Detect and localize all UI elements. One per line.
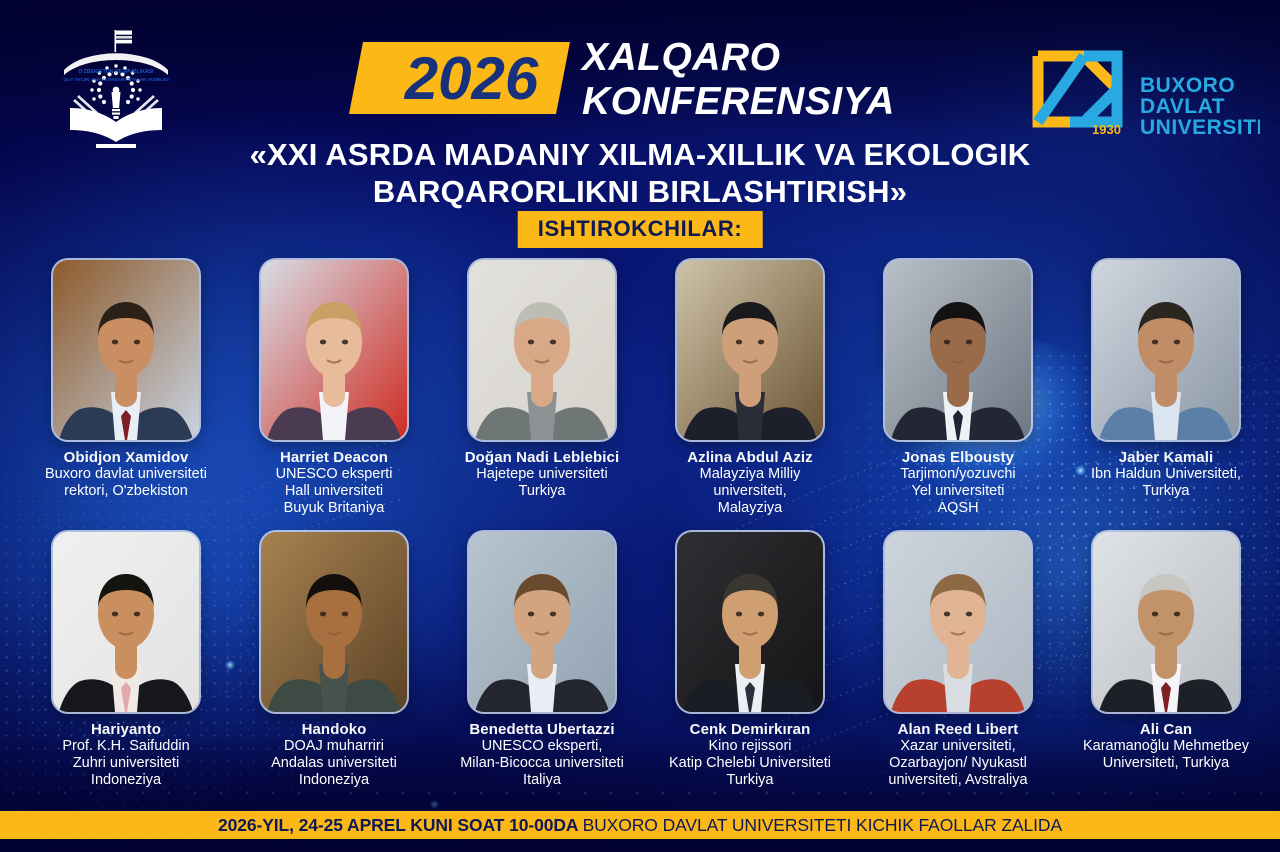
speaker-affiliation-line: Kino rejissori: [646, 738, 854, 755]
speaker-affiliation-line: Yel universiteti: [854, 483, 1062, 500]
speaker-affiliation: Kino rejissoriKatip Chelebi Universiteti…: [646, 738, 854, 789]
speaker-photo: [53, 260, 199, 440]
speaker-info: Jonas ElboustyTarjimon/yozuvchiYel unive…: [854, 449, 1062, 517]
speaker-affiliation: Prof. K.H. SaifuddinZuhri universitetiIn…: [22, 738, 230, 789]
speaker-row-2: HariyantoProf. K.H. SaifuddinZuhri unive…: [0, 532, 1280, 789]
speaker-affiliation-line: Milan-Bicocca universiteti: [438, 755, 646, 772]
speaker-card: Cenk DemirkıranKino rejissoriKatip Chele…: [646, 532, 854, 789]
speaker-info: HariyantoProf. K.H. SaifuddinZuhri unive…: [22, 721, 230, 789]
speaker-photo: [885, 532, 1031, 712]
speaker-card: Harriet DeaconUNESCO ekspertiHall univer…: [230, 260, 438, 517]
speaker-name: Alan Reed Libert: [854, 721, 1062, 738]
speaker-name: Hariyanto: [22, 721, 230, 738]
event-datetime-banner: 2026-YIL, 24-25 APREL KUNI SOAT 10-00DA …: [0, 811, 1280, 839]
speaker-card: Ali CanKaramanoğlu MehmetbeyUniversiteti…: [1062, 532, 1270, 789]
speaker-affiliation-line: Zuhri universiteti: [22, 755, 230, 772]
conference-poster: O'ZBEKISTON RESPUBLIKASI OLIY TA'LIM, FA…: [0, 0, 1280, 852]
speaker-card: HandokoDOAJ muharririAndalas universitet…: [230, 532, 438, 789]
subtitle-line2: BARQARORLIKNI BIRLASHTIRISH»: [0, 173, 1280, 210]
speaker-card: Obidjon XamidovBuxoro davlat universitet…: [22, 260, 230, 517]
speaker-photo: [261, 260, 407, 440]
year-text: 2026: [368, 45, 575, 111]
speaker-card: Jaber KamaliIbn Haldun Universiteti,Turk…: [1062, 260, 1270, 517]
speaker-affiliation-line: Buyuk Britaniya: [230, 500, 438, 517]
speaker-affiliation-line: Tarjimon/yozuvchi: [854, 466, 1062, 483]
speaker-affiliation-line: Hajetepe universiteti: [438, 466, 646, 483]
emblem-text-line1: O'ZBEKISTON RESPUBLIKASI: [78, 69, 154, 75]
speaker-affiliation: Karamanoğlu MehmetbeyUniversiteti, Turki…: [1062, 738, 1270, 772]
conference-title-line1: XALQARO: [582, 36, 895, 80]
speaker-info: Ali CanKaramanoğlu MehmetbeyUniversiteti…: [1062, 721, 1270, 772]
footer-regular-part: BUXORO DAVLAT UNIVERSITETI KICHIK FAOLLA…: [583, 815, 1062, 835]
speaker-name: Jaber Kamali: [1062, 449, 1270, 466]
emblem-text-line2: OLIY TA'LIM, FAN VA INNOVATSIYALAR VAZIR…: [63, 77, 168, 82]
speaker-affiliation: Ibn Haldun Universiteti,Turkiya: [1062, 466, 1270, 500]
speaker-photo: [677, 260, 823, 440]
footer-text: 2026-YIL, 24-25 APREL KUNI SOAT 10-00DA …: [218, 815, 1062, 836]
speaker-affiliation-line: UNESCO eksperti,: [438, 738, 646, 755]
speaker-info: HandokoDOAJ muharririAndalas universitet…: [230, 721, 438, 789]
speaker-affiliation: Buxoro davlat universitetirektori, O'zbe…: [22, 466, 230, 500]
conference-subtitle: «XXI ASRDA MADANIY XILMA-XILLIK VA EKOLO…: [0, 136, 1280, 210]
speaker-affiliation-line: Turkiya: [646, 772, 854, 789]
logo-line-davlat: DAVLAT: [1140, 95, 1225, 118]
speaker-affiliation: Malayziya Milliyuniversiteti,Malayziya: [646, 466, 854, 517]
speaker-affiliation-line: Katip Chelebi Universiteti: [646, 755, 854, 772]
speaker-info: Jaber KamaliIbn Haldun Universiteti,Turk…: [1062, 449, 1270, 500]
logo-line-buxoro: BUXORO: [1140, 74, 1235, 97]
speaker-row-1: Obidjon XamidovBuxoro davlat universitet…: [0, 260, 1280, 517]
speaker-affiliation: Xazar universiteti,Ozarbayjon/ Nyukastlu…: [854, 738, 1062, 789]
speaker-info: Benedetta UbertazziUNESCO eksperti,Milan…: [438, 721, 646, 789]
speaker-photo: [469, 260, 615, 440]
logo-founded-year: 1930: [1092, 122, 1121, 137]
speaker-name: Ali Can: [1062, 721, 1270, 738]
speaker-photo: [1093, 532, 1239, 712]
conference-title-line2: KONFERENSIYA: [582, 80, 895, 124]
speaker-affiliation: Tarjimon/yozuvchiYel universitetiAQSH: [854, 466, 1062, 517]
speaker-card: Azlina Abdul AzizMalayziya Milliyunivers…: [646, 260, 854, 517]
speaker-affiliation-line: Xazar universiteti,: [854, 738, 1062, 755]
speaker-name: Harriet Deacon: [230, 449, 438, 466]
speaker-affiliation-line: Prof. K.H. Saifuddin: [22, 738, 230, 755]
speaker-affiliation-line: universiteti,: [646, 483, 854, 500]
speaker-photo: [53, 532, 199, 712]
ministry-emblem-icon: O'ZBEKISTON RESPUBLIKASI OLIY TA'LIM, FA…: [52, 26, 180, 148]
speaker-info: Azlina Abdul AzizMalayziya Milliyunivers…: [646, 449, 854, 517]
conference-title-block: 2026 XALQARO KONFERENSIYA: [356, 36, 936, 132]
speaker-affiliation: UNESCO ekspertiHall universitetiBuyuk Br…: [230, 466, 438, 517]
speaker-affiliation-line: Andalas universiteti: [230, 755, 438, 772]
speaker-affiliation-line: Malayziya: [646, 500, 854, 517]
subtitle-line1: «XXI ASRDA MADANIY XILMA-XILLIK VA EKOLO…: [0, 136, 1280, 173]
speaker-affiliation-line: Italiya: [438, 772, 646, 789]
speaker-affiliation: DOAJ muharririAndalas universitetiIndone…: [230, 738, 438, 789]
speaker-info: Cenk DemirkıranKino rejissoriKatip Chele…: [646, 721, 854, 789]
speaker-affiliation-line: Ozarbayjon/ Nyukastl: [854, 755, 1062, 772]
speaker-affiliation-line: universiteti, Avstraliya: [854, 772, 1062, 789]
speaker-affiliation-line: Buxoro davlat universiteti: [22, 466, 230, 483]
speaker-affiliation-line: Turkiya: [438, 483, 646, 500]
speaker-info: Obidjon XamidovBuxoro davlat universitet…: [22, 449, 230, 500]
participants-badge: ISHTIROKCHILAR:: [518, 211, 763, 248]
speaker-affiliation-line: Malayziya Milliy: [646, 466, 854, 483]
speaker-affiliation-line: Indoneziya: [230, 772, 438, 789]
speaker-affiliation-line: Universiteti, Turkiya: [1062, 755, 1270, 772]
speaker-affiliation-line: Karamanoğlu Mehmetbey: [1062, 738, 1270, 755]
speaker-name: Handoko: [230, 721, 438, 738]
speaker-card: Alan Reed LibertXazar universiteti,Ozarb…: [854, 532, 1062, 789]
speaker-name: Benedetta Ubertazzi: [438, 721, 646, 738]
speaker-info: Alan Reed LibertXazar universiteti,Ozarb…: [854, 721, 1062, 789]
speaker-photo: [677, 532, 823, 712]
speaker-name: Jonas Elbousty: [854, 449, 1062, 466]
speaker-name: Azlina Abdul Aziz: [646, 449, 854, 466]
buxoro-university-logo: BUXORO DAVLAT UNIVERSITETI 1930: [1022, 36, 1260, 141]
speaker-info: Doğan Nadi LeblebiciHajetepe universitet…: [438, 449, 646, 500]
speaker-affiliation-line: AQSH: [854, 500, 1062, 517]
speaker-affiliation-line: rektori, O'zbekiston: [22, 483, 230, 500]
speaker-affiliation-line: Ibn Haldun Universiteti,: [1062, 466, 1270, 483]
speaker-affiliation: Hajetepe universitetiTurkiya: [438, 466, 646, 500]
speaker-photo: [885, 260, 1031, 440]
conference-title-lines: XALQARO KONFERENSIYA: [582, 36, 895, 124]
speaker-photo: [469, 532, 615, 712]
speaker-name: Doğan Nadi Leblebici: [438, 449, 646, 466]
footer-bold-part: 2026-YIL, 24-25 APREL KUNI SOAT 10-00DA: [218, 815, 583, 835]
speaker-photo: [261, 532, 407, 712]
speaker-info: Harriet DeaconUNESCO ekspertiHall univer…: [230, 449, 438, 517]
speaker-affiliation-line: Hall universiteti: [230, 483, 438, 500]
speaker-card: HariyantoProf. K.H. SaifuddinZuhri unive…: [22, 532, 230, 789]
speaker-affiliation-line: UNESCO eksperti: [230, 466, 438, 483]
speaker-card: Benedetta UbertazziUNESCO eksperti,Milan…: [438, 532, 646, 789]
speaker-card: Doğan Nadi LeblebiciHajetepe universitet…: [438, 260, 646, 517]
speaker-name: Obidjon Xamidov: [22, 449, 230, 466]
speaker-affiliation-line: DOAJ muharriri: [230, 738, 438, 755]
speaker-photo: [1093, 260, 1239, 440]
speaker-name: Cenk Demirkıran: [646, 721, 854, 738]
speaker-affiliation: UNESCO eksperti,Milan-Bicocca universite…: [438, 738, 646, 789]
speaker-affiliation-line: Turkiya: [1062, 483, 1270, 500]
speaker-card: Jonas ElboustyTarjimon/yozuvchiYel unive…: [854, 260, 1062, 517]
speaker-affiliation-line: Indoneziya: [22, 772, 230, 789]
